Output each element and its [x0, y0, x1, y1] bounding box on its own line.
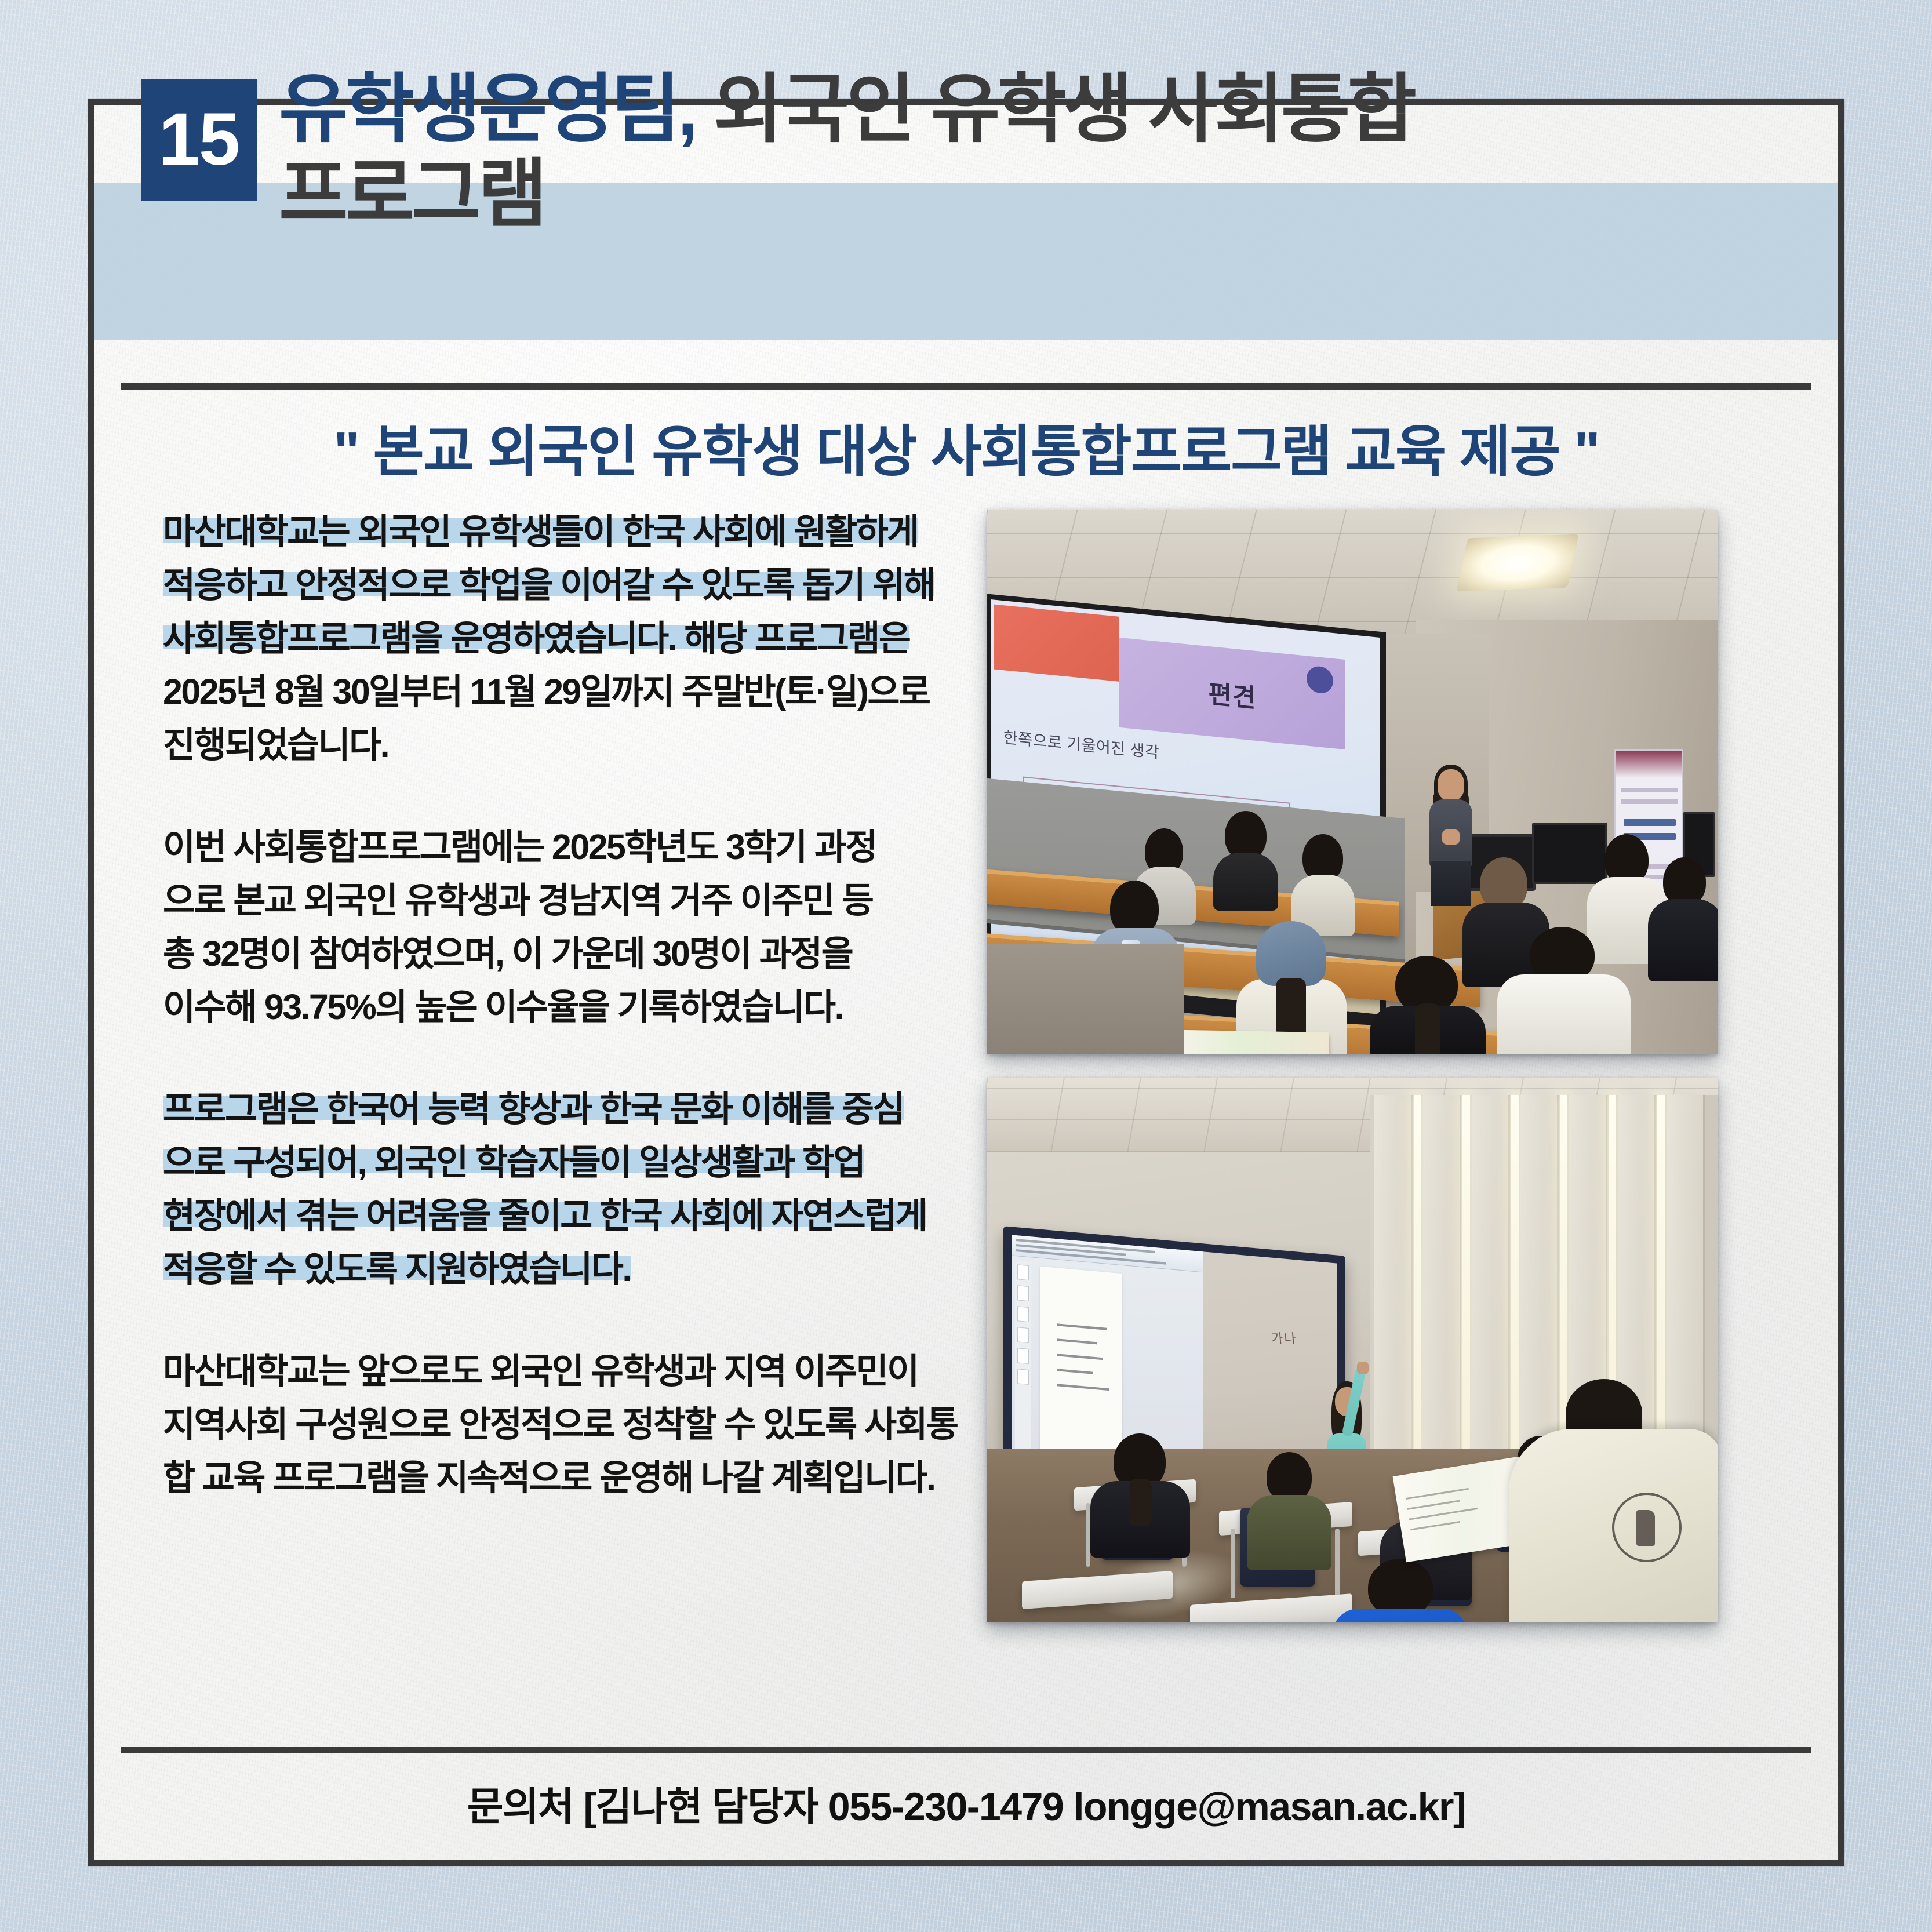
- title-main-1: 외국인 유학생 사회통합: [714, 67, 1414, 151]
- photo2-handwriting: 가나: [1270, 1328, 1297, 1347]
- footer-contact: 문의처 [김나현 담당자 055-230-1479 longge@masan.a…: [94, 1774, 1838, 1832]
- header: 15 유학생운영팀, 외국인 유학생 사회통합 프로그램: [94, 105, 1838, 389]
- photo1-student: [1211, 811, 1280, 904]
- photo1-floor: [987, 944, 1184, 1054]
- paragraph-3: 프로그램은 한국어 능력 향상과 한국 문화 이해를 중심 으로 구성되어, 외…: [163, 1082, 945, 1296]
- photo1-student: [1370, 956, 1486, 1054]
- paragraph-2: 이번 사회통합프로그램에는 2025학년도 3학기 과정 으로 본교 외국인 유…: [163, 820, 945, 1034]
- paragraph-line: 으로 구성되어, 외국인 학습자들이 일상생활과 학업: [163, 1136, 945, 1189]
- quote-subtitle: " 본교 외국인 유학생 대상 사회통합프로그램 교육 제공 ": [94, 406, 1838, 487]
- article-text-column: 마산대학교는 외국인 유학생들이 한국 사회에 원활하게 적응하고 안정적으로 …: [163, 505, 945, 1504]
- number-badge: 15: [141, 79, 257, 201]
- paragraph-line: 프로그램은 한국어 능력 향상과 한국 문화 이해를 중심: [163, 1082, 945, 1136]
- photo2-student: [1332, 1559, 1468, 1622]
- body-area: 마산대학교는 외국인 유학생들이 한국 사회에 원활하게 적응하고 안정적으로 …: [94, 505, 1838, 1734]
- photo1-student: [1497, 927, 1631, 1054]
- title-team-name: 유학생운영팀,: [279, 67, 696, 151]
- photo1-open-textbook: [1178, 1030, 1330, 1054]
- paragraph-line: 진행되었습니다.: [163, 718, 945, 772]
- slide-red-tab: [994, 605, 1119, 682]
- title-main-2: 프로그램: [279, 151, 544, 236]
- footer-divider: [121, 1747, 1811, 1753]
- slide-title: 편견: [1119, 638, 1345, 749]
- paragraph-line: 합 교육 프로그램을 지속적으로 운영해 나갈 계획입니다.: [163, 1451, 945, 1504]
- number-badge-label: 15: [159, 103, 239, 177]
- paragraph-line: 마산대학교는 외국인 유학생들이 한국 사회에 원활하게: [163, 505, 945, 558]
- photo-lecture-hall: 편견 한쪽으로 기울어진 생각 키가 작은 사람은 농구를 못 한다. 여성은 …: [987, 510, 1718, 1054]
- photo2-foreground-student-hoodie: [1509, 1429, 1718, 1622]
- paragraph-line: 으로 본교 외국인 유학생과 경남지역 거주 이주민 등: [163, 874, 945, 927]
- paragraph-line: 2025년 8월 30일부터 11월 29일까지 주말반(토·일)으로: [163, 665, 945, 718]
- paragraph-line: 이번 사회통합프로그램에는 2025학년도 3학기 과정: [163, 820, 945, 874]
- photo2-student: [1247, 1452, 1331, 1568]
- paragraph-line: 현장에서 겪는 어려움을 줄이고 한국 사회에 자연스럽게: [163, 1189, 945, 1242]
- paragraph-4: 마산대학교는 앞으로도 외국인 유학생과 지역 이주민이 지역사회 구성원으로 …: [163, 1344, 945, 1504]
- header-divider: [121, 383, 1811, 390]
- paragraph-line: 적응할 수 있도록 지원하였습니다.: [163, 1242, 945, 1296]
- paragraph-line: 적응하고 안정적으로 학업을 이어갈 수 있도록 돕기 위해: [163, 558, 945, 612]
- brand-logo-icon: [1612, 1493, 1682, 1562]
- paragraph-1: 마산대학교는 외국인 유학생들이 한국 사회에 원활하게 적응하고 안정적으로 …: [163, 505, 945, 772]
- paragraph-line: 지역사회 구성원으로 안정적으로 정착할 수 있도록 사회통: [163, 1398, 945, 1451]
- page-title: 유학생운영팀, 외국인 유학생 사회통합 프로그램: [279, 67, 1803, 236]
- card-frame: 15 유학생운영팀, 외국인 유학생 사회통합 프로그램 " 본교 외국인 유학…: [88, 99, 1844, 1866]
- paragraph-line: 총 32명이 참여하였으며, 이 가운데 30명이 과정을: [163, 927, 945, 980]
- paragraph-line: 마산대학교는 앞으로도 외국인 유학생과 지역 이주민이: [163, 1344, 945, 1398]
- photo1-ceiling-light: [1456, 534, 1578, 592]
- slide-subtitle: 한쪽으로 기울어진 생각: [1003, 725, 1159, 762]
- photo2-student: [1090, 1433, 1190, 1555]
- paragraph-line: 이수해 93.75%의 높은 이수율을 기록하였습니다.: [163, 980, 945, 1034]
- title-line-1: 유학생운영팀, 외국인 유학생 사회통합: [279, 67, 1803, 152]
- photo-column: 편견 한쪽으로 기울어진 생각 키가 작은 사람은 농구를 못 한다. 여성은 …: [987, 510, 1775, 1622]
- photo-classroom-whiteboard: 가나: [987, 1078, 1718, 1622]
- paragraph-line: 사회통합프로그램을 운영하였습니다. 해당 프로그램은: [163, 612, 945, 665]
- photo1-student: [1648, 857, 1718, 979]
- title-line-2: 프로그램: [279, 152, 1803, 237]
- poster-canvas: 15 유학생운영팀, 외국인 유학생 사회통합 프로그램 " 본교 외국인 유학…: [0, 0, 1932, 1932]
